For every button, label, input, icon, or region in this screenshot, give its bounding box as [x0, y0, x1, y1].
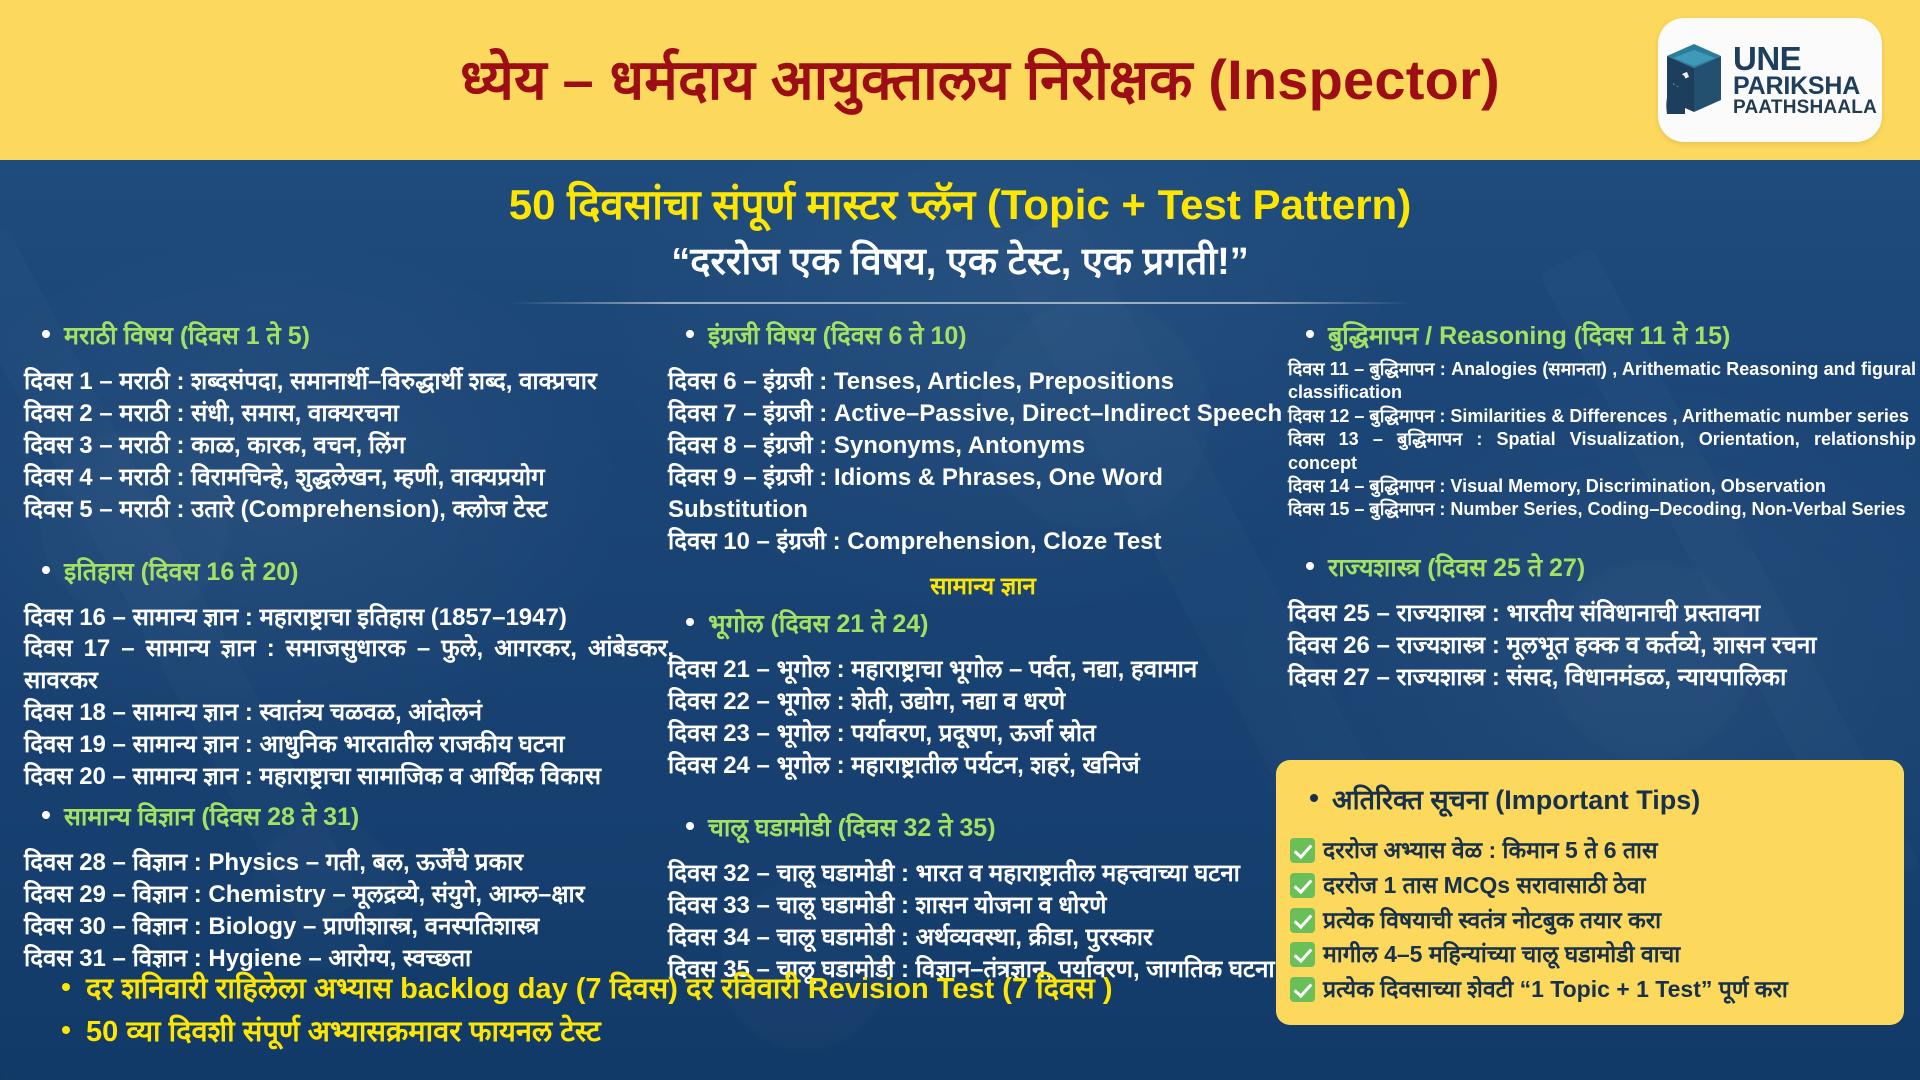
- brand-logo-text: UNE PARIKSHA PAATHSHAALA: [1733, 43, 1877, 116]
- subtitle-band: 50 दिवसांचा संपूर्ण मास्टर प्लॅन (Topic …: [0, 160, 1920, 304]
- list-item: दिवस 26 – राज्यशास्त्र : मूलभूत हक्क व क…: [1288, 630, 1916, 662]
- bullet-dot-icon: [686, 618, 694, 626]
- section-heading-label: चालू घडामोडी (दिवस 32 ते 35): [708, 810, 996, 844]
- tip-label: दररोज अभ्यास वेळ : किमान 5 ते 6 तास: [1323, 835, 1658, 866]
- bullet-dot-icon: [62, 983, 70, 991]
- plan-tagline: “दररोज एक विषय, एक टेस्ट, एक प्रगती!”: [0, 242, 1920, 284]
- footer-notes: दर शनिवारी राहिलेला अभ्यास backlog day (…: [48, 970, 1268, 1056]
- list-item: दिवस 23 – भूगोल : पर्यावरण, प्रदूषण, ऊर्…: [668, 718, 1298, 750]
- list-item: दिवस 32 – चालू घडामोडी : भारत व महाराष्ट…: [668, 858, 1298, 890]
- list-item: दिवस 18 – सामान्य ज्ञान : स्वातंत्र्य चळ…: [24, 697, 674, 729]
- footer-note: दर शनिवारी राहिलेला अभ्यास backlog day (…: [48, 970, 1268, 1009]
- section-items: दिवस 16 – सामान्य ज्ञान : महाराष्ट्राचा …: [24, 602, 674, 793]
- list-item: दिवस 22 – भूगोल : शेती, उद्योग, नद्या व …: [668, 686, 1298, 718]
- section-heading: चालू घडामोडी (दिवस 32 ते 35): [668, 810, 1298, 844]
- graduation-cap-book-icon: [1663, 40, 1725, 120]
- bullet-dot-icon: [686, 330, 694, 338]
- page-title: ध्येय – धर्मदाय आयुक्तालय निरीक्षक (Insp…: [0, 51, 1920, 110]
- logo-line-1: UNE: [1733, 43, 1801, 74]
- section-heading: राज्यशास्त्र (दिवस 25 ते 27): [1288, 550, 1916, 584]
- logo-line-2: PARIKSHA: [1733, 75, 1860, 99]
- infographic-poster: ध्येय – धर्मदाय आयुक्तालय निरीक्षक (Insp…: [0, 0, 1920, 1080]
- column-right: बुद्धिमापन / Reasoning (दिवस 11 ते 15) द…: [1288, 318, 1916, 699]
- list-item: दिवस 24 – भूगोल : महाराष्ट्रातील पर्यटन,…: [668, 750, 1298, 782]
- bullet-dot-icon: [1306, 562, 1314, 570]
- list-item: दिवस 15 – बुद्धिमापन : Number Series, Co…: [1288, 498, 1916, 521]
- column-middle: इंग्रजी विषय (दिवस 6 ते 10) दिवस 6 – इंग…: [668, 318, 1298, 992]
- tip-label: मागील 4–5 महिन्यांच्या चालू घडामोडी वाचा: [1323, 939, 1680, 970]
- list-item: दिवस 14 – बुद्धिमापन : Visual Memory, Di…: [1288, 475, 1916, 498]
- check-icon: [1290, 873, 1315, 898]
- footer-note-label: दर शनिवारी राहिलेला अभ्यास backlog day (…: [86, 970, 1112, 1009]
- list-item: दिवस 6 – इंग्रजी : Tenses, Articles, Pre…: [668, 366, 1298, 398]
- section-english: इंग्रजी विषय (दिवस 6 ते 10) दिवस 6 – इंग…: [668, 318, 1298, 557]
- section-heading-label: मराठी विषय (दिवस 1 ते 5): [64, 318, 310, 352]
- section-heading-label: इंग्रजी विषय (दिवस 6 ते 10): [708, 318, 967, 352]
- bullet-dot-icon: [686, 822, 694, 830]
- section-current-affairs: चालू घडामोडी (दिवस 32 ते 35) दिवस 32 – च…: [668, 810, 1298, 986]
- list-item: दिवस 28 – विज्ञान : Physics – गती, बल, ऊ…: [24, 847, 674, 879]
- list-item: दिवस 30 – विज्ञान : Biology – प्राणीशास्…: [24, 911, 674, 943]
- list-item: दिवस 17 – सामान्य ज्ञान : समाजसुधारक – फ…: [24, 633, 674, 697]
- section-heading: भूगोल (दिवस 21 ते 24): [668, 606, 1298, 640]
- section-heading: बुद्धिमापन / Reasoning (दिवस 11 ते 15): [1288, 318, 1916, 352]
- list-item: दिवस 25 – राज्यशास्त्र : भारतीय संविधाना…: [1288, 598, 1916, 630]
- tip-item: प्रत्येक दिवसाच्या शेवटी “1 Topic + 1 Te…: [1290, 974, 1886, 1005]
- tips-heading-label: अतिरिक्त सूचना (Important Tips): [1332, 780, 1700, 817]
- list-item: दिवस 3 – मराठी : काळ, कारक, वचन, लिंग: [24, 430, 674, 462]
- subtitle-divider: [510, 302, 1410, 304]
- section-marathi: मराठी विषय (दिवस 1 ते 5) दिवस 1 – मराठी …: [24, 318, 674, 526]
- tip-item: दररोज 1 तास MCQs सरावासाठी ठेवा: [1290, 870, 1886, 901]
- section-heading: मराठी विषय (दिवस 1 ते 5): [24, 318, 674, 352]
- section-heading-label: बुद्धिमापन / Reasoning (दिवस 11 ते 15): [1328, 318, 1730, 352]
- bullet-dot-icon: [1310, 794, 1318, 802]
- important-tips-box: अतिरिक्त सूचना (Important Tips) दररोज अभ…: [1276, 760, 1904, 1025]
- check-icon: [1290, 908, 1315, 933]
- list-item: दिवस 19 – सामान्य ज्ञान : आधुनिक भारताती…: [24, 729, 674, 761]
- section-items: दिवस 21 – भूगोल : महाराष्ट्राचा भूगोल – …: [668, 654, 1298, 782]
- section-items: दिवस 11 – बुद्धिमापन : Analogies (समानता…: [1288, 358, 1916, 522]
- list-item: दिवस 16 – सामान्य ज्ञान : महाराष्ट्राचा …: [24, 602, 674, 634]
- section-heading: इतिहास (दिवस 16 ते 20): [24, 554, 674, 588]
- list-item: दिवस 8 – इंग्रजी : Synonyms, Antonyms: [668, 430, 1298, 462]
- list-item: दिवस 1 – मराठी : शब्दसंपदा, समानार्थी–वि…: [24, 366, 674, 398]
- list-item: दिवस 13 – बुद्धिमापन : Spatial Visualiza…: [1288, 428, 1916, 475]
- section-heading: इंग्रजी विषय (दिवस 6 ते 10): [668, 318, 1298, 352]
- section-science: सामान्य विज्ञान (दिवस 28 ते 31) दिवस 28 …: [24, 799, 674, 975]
- section-polity: राज्यशास्त्र (दिवस 25 ते 27) दिवस 25 – र…: [1288, 550, 1916, 694]
- section-heading-label: राज्यशास्त्र (दिवस 25 ते 27): [1328, 550, 1585, 584]
- section-items: दिवस 1 – मराठी : शब्दसंपदा, समानार्थी–वि…: [24, 366, 674, 526]
- tips-heading: अतिरिक्त सूचना (Important Tips): [1296, 780, 1886, 817]
- section-geography: भूगोल (दिवस 21 ते 24) दिवस 21 – भूगोल : …: [668, 606, 1298, 782]
- bullet-dot-icon: [42, 330, 50, 338]
- column-left: मराठी विषय (दिवस 1 ते 5) दिवस 1 – मराठी …: [24, 318, 674, 981]
- list-item: दिवस 9 – इंग्रजी : Idioms & Phrases, One…: [668, 462, 1298, 526]
- list-item: दिवस 4 – मराठी : विरामचिन्हे, शुद्धलेखन,…: [24, 462, 674, 494]
- section-history: इतिहास (दिवस 16 ते 20) दिवस 16 – सामान्य…: [24, 554, 674, 793]
- list-item: दिवस 29 – विज्ञान : Chemistry – मूलद्रव्…: [24, 879, 674, 911]
- list-item: दिवस 2 – मराठी : संधी, समास, वाक्यरचना: [24, 398, 674, 430]
- plan-subtitle: 50 दिवसांचा संपूर्ण मास्टर प्लॅन (Topic …: [0, 182, 1920, 228]
- section-heading: सामान्य विज्ञान (दिवस 28 ते 31): [24, 799, 674, 833]
- section-reasoning: बुद्धिमापन / Reasoning (दिवस 11 ते 15) द…: [1288, 318, 1916, 522]
- list-item: दिवस 33 – चालू घडामोडी : शासन योजना व धो…: [668, 890, 1298, 922]
- section-items: दिवस 28 – विज्ञान : Physics – गती, बल, ऊ…: [24, 847, 674, 975]
- section-heading-label: सामान्य विज्ञान (दिवस 28 ते 31): [64, 799, 359, 833]
- list-item: दिवस 7 – इंग्रजी : Active–Passive, Direc…: [668, 398, 1298, 430]
- bullet-dot-icon: [62, 1026, 70, 1034]
- section-items: दिवस 6 – इंग्रजी : Tenses, Articles, Pre…: [668, 366, 1298, 557]
- bullet-dot-icon: [42, 811, 50, 819]
- tip-item: दररोज अभ्यास वेळ : किमान 5 ते 6 तास: [1290, 835, 1886, 866]
- list-item: दिवस 10 – इंग्रजी : Comprehension, Cloze…: [668, 526, 1298, 558]
- footer-note: 50 व्या दिवशी संपूर्ण अभ्यासक्रमावर फायन…: [48, 1013, 1268, 1052]
- tip-item: प्रत्येक विषयाची स्वतंत्र नोटबुक तयार कर…: [1290, 905, 1886, 936]
- list-item: दिवस 21 – भूगोल : महाराष्ट्राचा भूगोल – …: [668, 654, 1298, 686]
- list-item: दिवस 5 – मराठी : उतारे (Comprehension), …: [24, 494, 674, 526]
- list-item: दिवस 20 – सामान्य ज्ञान : महाराष्ट्राचा …: [24, 761, 674, 793]
- list-item: दिवस 11 – बुद्धिमापन : Analogies (समानता…: [1288, 358, 1916, 405]
- section-items: दिवस 32 – चालू घडामोडी : भारत व महाराष्ट…: [668, 858, 1298, 986]
- list-item: दिवस 27 – राज्यशास्त्र : संसद, विधानमंडळ…: [1288, 662, 1916, 694]
- logo-line-3: PAATHSHAALA: [1733, 99, 1877, 117]
- footer-note-label: 50 व्या दिवशी संपूर्ण अभ्यासक्रमावर फायन…: [86, 1013, 601, 1052]
- brand-logo: UNE PARIKSHA PAATHSHAALA: [1658, 18, 1882, 142]
- section-items: दिवस 25 – राज्यशास्त्र : भारतीय संविधाना…: [1288, 598, 1916, 694]
- bullet-dot-icon: [1306, 330, 1314, 338]
- list-item: दिवस 34 – चालू घडामोडी : अर्थव्यवस्था, क…: [668, 922, 1298, 954]
- tip-item: मागील 4–5 महिन्यांच्या चालू घडामोडी वाचा: [1290, 939, 1886, 970]
- tip-label: प्रत्येक विषयाची स्वतंत्र नोटबुक तयार कर…: [1323, 905, 1661, 936]
- section-heading-label: इतिहास (दिवस 16 ते 20): [64, 554, 299, 588]
- tip-label: प्रत्येक दिवसाच्या शेवटी “1 Topic + 1 Te…: [1323, 974, 1788, 1005]
- list-item: दिवस 12 – बुद्धिमापन : Similarities & Di…: [1288, 405, 1916, 428]
- check-icon: [1290, 977, 1315, 1002]
- section-heading-label: भूगोल (दिवस 21 ते 24): [708, 606, 928, 640]
- tip-label: दररोज 1 तास MCQs सरावासाठी ठेवा: [1323, 870, 1645, 901]
- poster-header: ध्येय – धर्मदाय आयुक्तालय निरीक्षक (Insp…: [0, 0, 1920, 160]
- check-icon: [1290, 838, 1315, 863]
- check-icon: [1290, 942, 1315, 967]
- group-label-general-knowledge: सामान्य ज्ञान: [668, 569, 1298, 602]
- bullet-dot-icon: [42, 566, 50, 574]
